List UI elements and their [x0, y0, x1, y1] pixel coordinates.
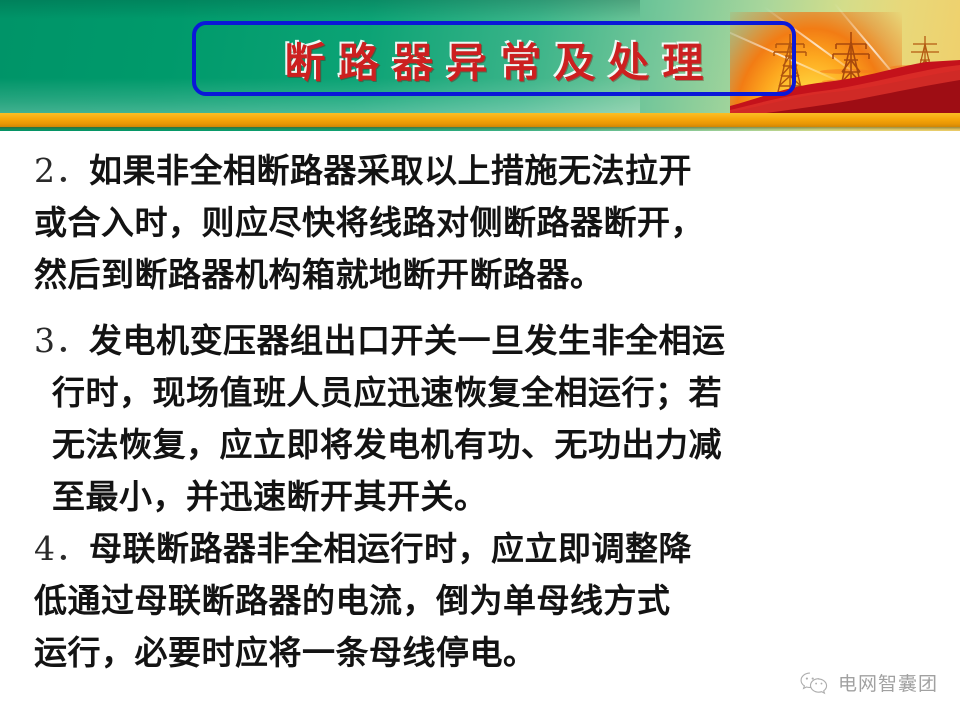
paragraph-3-number: 3． [34, 321, 89, 360]
header-banner: 断路器异常及处理 [0, 0, 960, 131]
paragraph-2-line-1-text: 如果非全相断路器采取以上措施无法拉开 [89, 151, 692, 190]
paragraph-4-line-3: 运行，必要时应将一条母线停电。 [34, 627, 926, 679]
slide: 断路器异常及处理 2．如果非全相断路器采取以上措施无法拉开 或合入时，则应尽快将… [0, 0, 960, 720]
paragraph-2-line-3: 然后到断路器机构箱就地断开断路器。 [34, 249, 926, 301]
gold-divider-bar [0, 113, 960, 127]
paragraph-3-line-3: 无法恢复，应立即将发电机有功、无功出力减 [34, 419, 926, 471]
paragraph-3-line-1-text: 发电机变压器组出口开关一旦发生非全相运 [89, 321, 726, 360]
title-box: 断路器异常及处理 [192, 21, 796, 96]
page-title: 断路器异常及处理 [196, 25, 792, 92]
paragraph-3-line-1: 3．发电机变压器组出口开关一旦发生非全相运 [34, 315, 926, 367]
paragraph-4-number: 4． [34, 529, 89, 568]
paragraph-3: 3．发电机变压器组出口开关一旦发生非全相运 行时，现场值班人员应迅速恢复全相运行… [34, 315, 926, 523]
paragraph-4-line-1: 4．母联断路器非全相运行时，应立即调整降 [34, 523, 926, 575]
slide-body: 2．如果非全相断路器采取以上措施无法拉开 或合入时，则应尽快将线路对侧断路器断开… [0, 131, 960, 720]
paragraph-2-number: 2． [34, 151, 89, 190]
paragraph-4-line-1-text: 母联断路器非全相运行时，应立即调整降 [89, 529, 692, 568]
paragraph-2-line-1: 2．如果非全相断路器采取以上措施无法拉开 [34, 145, 926, 197]
paragraph-3-line-4: 至最小，并迅速断开其开关。 [34, 471, 926, 523]
watermark: 电网智囊团 [799, 669, 938, 696]
paragraph-4: 4．母联断路器非全相运行时，应立即调整降 低通过母联断路器的电流，倒为单母线方式… [34, 523, 926, 679]
paragraph-2: 2．如果非全相断路器采取以上措施无法拉开 或合入时，则应尽快将线路对侧断路器断开… [34, 145, 926, 301]
paragraph-4-line-2: 低通过母联断路器的电流，倒为单母线方式 [34, 575, 926, 627]
wechat-icon [799, 671, 829, 695]
paragraph-3-line-2: 行时，现场值班人员应迅速恢复全相运行；若 [34, 367, 926, 419]
watermark-label: 电网智囊团 [838, 669, 938, 696]
paragraph-2-line-2: 或合入时，则应尽快将线路对侧断路器断开， [34, 197, 926, 249]
